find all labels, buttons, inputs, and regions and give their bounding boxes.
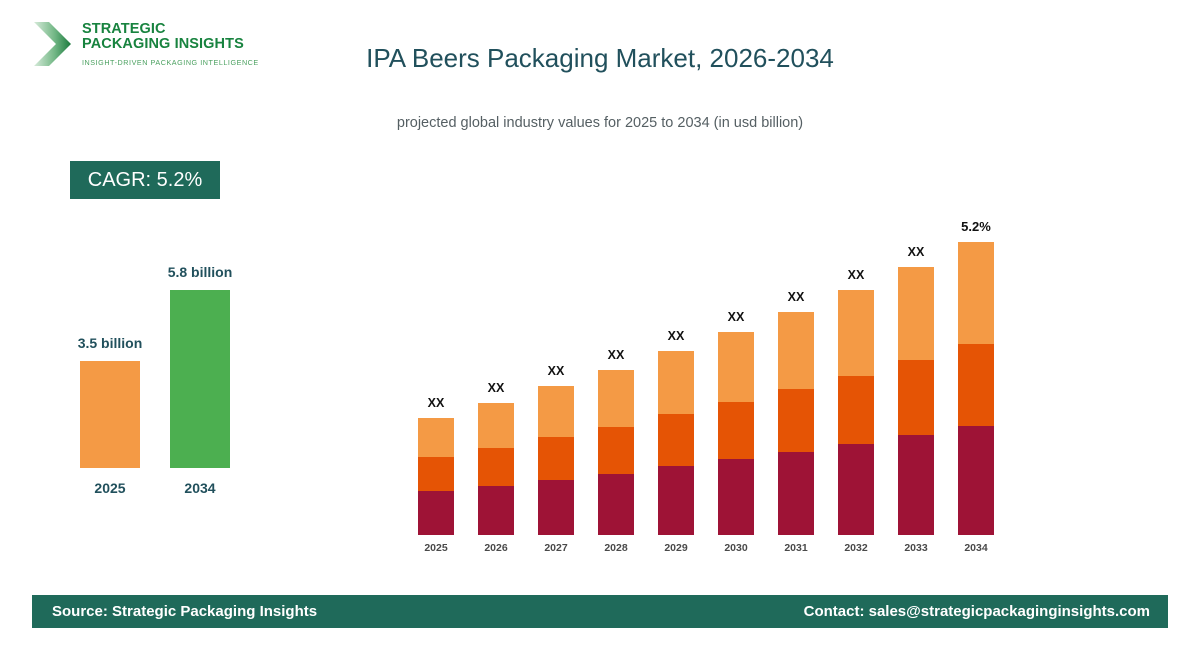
stacked-bar-year-2034: 2034 xyxy=(946,542,1006,554)
stacked-bar-2031 xyxy=(778,312,814,535)
bar-segment-segment-bottom-2030 xyxy=(718,459,754,534)
stacked-bar-2026 xyxy=(478,403,514,535)
footer-bar: Source: Strategic Packaging Insights Con… xyxy=(32,595,1168,628)
stacked-bar-value-2030: XX xyxy=(706,310,766,324)
comparison-bar-2034 xyxy=(170,290,230,468)
stacked-bar-value-2026: XX xyxy=(466,381,526,395)
stacked-bar-2034 xyxy=(958,242,994,535)
bar-segment-segment-bottom-2029 xyxy=(658,466,694,535)
stacked-bar-year-2031: 2031 xyxy=(766,542,826,554)
bar-segment-segment-top-2034 xyxy=(958,242,994,344)
bar-segment-segment-top-2029 xyxy=(658,351,694,414)
bar-segment-segment-top-2027 xyxy=(538,386,574,437)
stacked-bar-value-2025: XX xyxy=(406,396,466,410)
stacked-bar-2030 xyxy=(718,332,754,535)
bar-segment-segment-bottom-2026 xyxy=(478,486,514,535)
stacked-bar-year-2026: 2026 xyxy=(466,542,526,554)
bar-segment-segment-middle-2026 xyxy=(478,448,514,486)
stacked-bar-2025 xyxy=(418,418,454,535)
bar-segment-segment-bottom-2027 xyxy=(538,480,574,535)
footer-source-text: Source: Strategic Packaging Insights xyxy=(52,603,317,620)
stacked-bar-2028 xyxy=(598,370,634,535)
bar-segment-segment-top-2028 xyxy=(598,370,634,427)
stacked-bar-year-2029: 2029 xyxy=(646,542,706,554)
bar-segment-segment-bottom-2034 xyxy=(958,426,994,535)
comparison-value-label-2025: 3.5 billion xyxy=(50,335,170,351)
stacked-bar-2032 xyxy=(838,290,874,535)
bar-segment-segment-middle-2030 xyxy=(718,402,754,459)
stacked-bar-value-2028: XX xyxy=(586,348,646,362)
bar-segment-segment-top-2026 xyxy=(478,403,514,448)
bar-segment-segment-bottom-2025 xyxy=(418,491,454,535)
bar-segment-segment-bottom-2032 xyxy=(838,444,874,535)
comparison-year-label-2034: 2034 xyxy=(140,480,260,496)
stacked-bar-value-2031: XX xyxy=(766,290,826,304)
bar-segment-segment-top-2032 xyxy=(838,290,874,376)
bar-segment-segment-middle-2025 xyxy=(418,457,454,491)
bar-segment-segment-bottom-2031 xyxy=(778,452,814,535)
stacked-bar-2027 xyxy=(538,386,574,535)
bar-segment-segment-bottom-2033 xyxy=(898,435,934,535)
stacked-bar-2029 xyxy=(658,351,694,535)
stacked-bar-year-2032: 2032 xyxy=(826,542,886,554)
footer-contact-text: Contact: sales@strategicpackaginginsight… xyxy=(804,603,1150,620)
stacked-bar-value-2032: XX xyxy=(826,268,886,282)
stacked-bar-year-2030: 2030 xyxy=(706,542,766,554)
stacked-bar-year-2033: 2033 xyxy=(886,542,946,554)
stacked-bar-2033 xyxy=(898,267,934,535)
bar-segment-segment-top-2031 xyxy=(778,312,814,389)
market-comparison-chart: 3.5 billion20255.8 billion2034 xyxy=(0,0,300,580)
bar-segment-segment-middle-2031 xyxy=(778,389,814,452)
comparison-bar-2025 xyxy=(80,361,140,468)
stacked-bar-value-2027: XX xyxy=(526,364,586,378)
bar-segment-segment-middle-2029 xyxy=(658,414,694,466)
stacked-bar-year-2027: 2027 xyxy=(526,542,586,554)
stacked-bar-year-2028: 2028 xyxy=(586,542,646,554)
bar-segment-segment-middle-2028 xyxy=(598,427,634,474)
bar-segment-segment-bottom-2028 xyxy=(598,474,634,535)
stacked-bar-year-2025: 2025 xyxy=(406,542,466,554)
bar-segment-segment-middle-2032 xyxy=(838,376,874,445)
bar-segment-segment-top-2033 xyxy=(898,267,934,360)
bar-segment-segment-middle-2034 xyxy=(958,344,994,426)
stacked-bar-value-2034: 5.2% xyxy=(946,219,1006,234)
bar-segment-segment-middle-2033 xyxy=(898,360,934,435)
stacked-bar-value-2029: XX xyxy=(646,329,706,343)
stacked-bar-value-2033: XX xyxy=(886,245,946,259)
bar-segment-segment-top-2030 xyxy=(718,332,754,402)
stacked-forecast-chart: XX2025XX2026XX2027XX2028XX2029XX2030XX20… xyxy=(400,0,1020,580)
bar-segment-segment-middle-2027 xyxy=(538,437,574,479)
bar-segment-segment-top-2025 xyxy=(418,418,454,457)
comparison-value-label-2034: 5.8 billion xyxy=(140,264,260,280)
